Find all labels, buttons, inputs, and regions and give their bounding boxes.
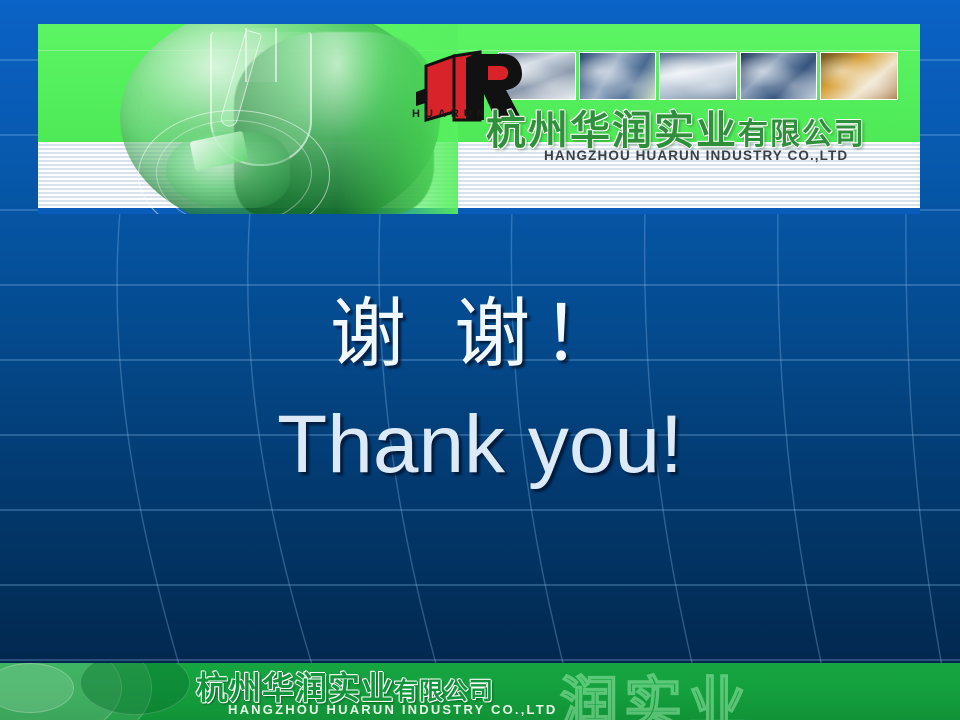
product-tile-laboratory-pipettes (579, 52, 657, 100)
company-name-cn-suffix: 有限公司 (738, 117, 866, 152)
company-name-en: HANGZHOU HUARUN INDUSTRY CO.,LTD (544, 148, 848, 163)
footer-band: 润实业 杭州华润实业有限公司 HANGZHOU HUARUN INDUSTRY … (0, 663, 960, 720)
footer-circle-decoration (0, 663, 220, 720)
header-banner: HUARUN 杭州华润实业有限公司 HANGZHOU HUARUN INDUST… (38, 24, 920, 214)
product-photo-strip (498, 52, 898, 100)
product-tile-glass-syringes (740, 52, 818, 100)
page-title-en: Thank you! (0, 404, 960, 486)
product-tile-amber-jars (820, 52, 898, 100)
footer-company-name-cn-suffix: 有限公司 (394, 677, 494, 705)
product-tile-dropper-bottles (659, 52, 737, 100)
page-title-cn: 谢 谢！ (0, 296, 960, 372)
footer-watermark-cn: 润实业 (560, 663, 752, 720)
presentation-slide: HUARUN 杭州华润实业有限公司 HANGZHOU HUARUN INDUST… (0, 0, 960, 720)
lab-photo (38, 24, 458, 214)
hr-logo-wordmark: HUARUN (412, 108, 490, 120)
footer-company-name-en: HANGZHOU HUARUN INDUSTRY CO.,LTD (228, 702, 557, 717)
